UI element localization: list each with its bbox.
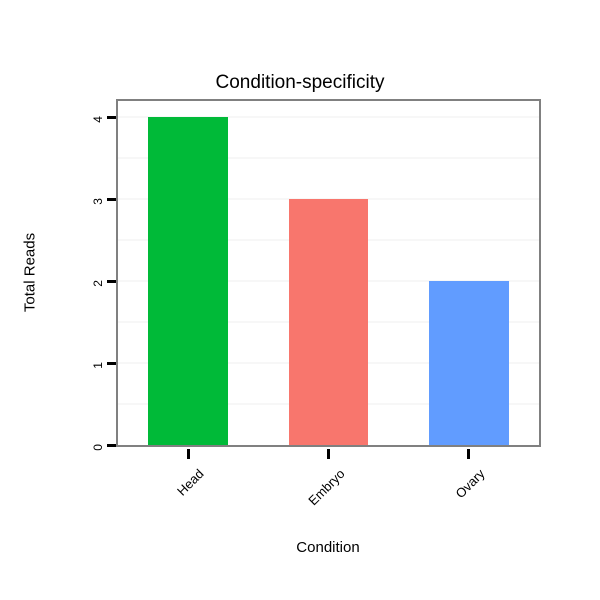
y-tick-mark — [107, 116, 116, 119]
y-tick-mark — [107, 362, 116, 365]
x-tick-mark — [467, 449, 470, 459]
y-tick-label: 0 — [91, 444, 105, 484]
y-tick-label: 4 — [91, 116, 105, 156]
y-tick-mark — [107, 444, 116, 447]
y-tick-label: 1 — [91, 362, 105, 402]
chart-canvas: Condition-specificity Total Reads 01234 … — [0, 0, 600, 600]
x-axis-title: Condition — [0, 539, 600, 556]
y-tick-label: 2 — [91, 280, 105, 320]
plot-panel — [116, 99, 541, 447]
y-tick-mark — [107, 280, 116, 283]
bar-ovary[interactable] — [429, 281, 509, 445]
y-tick-label: 3 — [91, 198, 105, 238]
x-tick-mark — [327, 449, 330, 459]
bar-embryo[interactable] — [289, 199, 369, 445]
bar-head[interactable] — [148, 117, 228, 445]
y-tick-mark — [107, 198, 116, 201]
x-tick-mark — [187, 449, 190, 459]
y-axis-title: Total Reads — [22, 203, 39, 343]
chart-title: Condition-specificity — [0, 72, 600, 94]
